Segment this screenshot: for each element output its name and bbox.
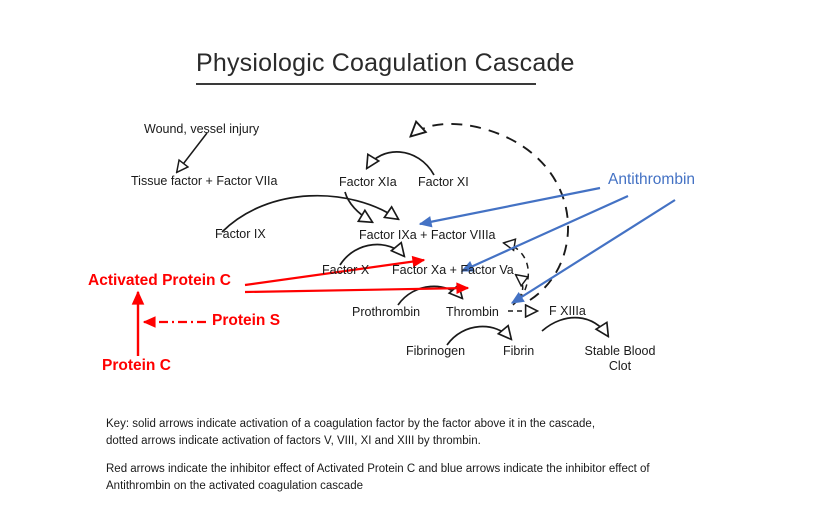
- legend-colors-line2: Antithrombin on the activated coagulatio…: [106, 478, 786, 495]
- node-factor-xia: Factor XIa: [339, 175, 397, 190]
- node-fibrin: Fibrin: [503, 344, 534, 359]
- node-stable-blood-clot-line2: Clot: [609, 359, 631, 373]
- arrow-thrombin-to-factorxa-dashed: [513, 275, 523, 305]
- node-thrombin: Thrombin: [446, 305, 499, 320]
- arrow-fibrin-to-stable-clot: [542, 318, 608, 336]
- arrow-antithrombin-to-factorixa: [420, 188, 600, 224]
- node-factor-ix: Factor IX: [215, 227, 266, 242]
- arrow-fibrinogen-to-fibrin: [447, 327, 511, 345]
- node-factor-xa-va: Factor Xa + Factor Va: [392, 263, 514, 278]
- node-prothrombin: Prothrombin: [352, 305, 420, 320]
- arrow-prothrombin-to-thrombin: [398, 286, 462, 305]
- arrow-factorxia-to-factorixa: [345, 192, 372, 222]
- node-stable-blood-clot-line1: Stable Blood: [585, 344, 656, 358]
- label-activated-protein-c: Activated Protein C: [88, 272, 231, 289]
- arrow-wound-to-tissue-factor: [177, 133, 207, 172]
- legend-colors-line1: Red arrows indicate the inhibitor effect…: [106, 461, 786, 478]
- legend-colors: Red arrows indicate the inhibitor effect…: [106, 461, 786, 494]
- arrow-factorx-to-factorxa: [340, 245, 404, 265]
- legend-key-line2: dotted arrows indicate activation of fac…: [106, 433, 706, 450]
- title-underline: [196, 83, 536, 85]
- diagram-page: Physiologic Coagulation Cascade: [0, 0, 833, 528]
- label-protein-s: Protein S: [212, 312, 280, 329]
- arrow-apc-to-factorxa: [245, 288, 468, 292]
- node-factor-ixa-viiia: Factor IXa + Factor VIIIa: [359, 228, 496, 243]
- legend-key: Key: solid arrows indicate activation of…: [106, 416, 706, 449]
- node-factor-x: Factor X: [322, 263, 369, 278]
- label-antithrombin: Antithrombin: [608, 171, 695, 188]
- arrow-factorxi-to-factorxia: [367, 152, 434, 175]
- node-stable-blood-clot: Stable Blood Clot: [581, 344, 659, 374]
- page-title: Physiologic Coagulation Cascade: [196, 50, 536, 85]
- arrow-antithrombin-to-thrombin: [512, 200, 675, 303]
- legend-key-line1: Key: solid arrows indicate activation of…: [106, 416, 706, 433]
- node-wound-vessel-injury: Wound, vessel injury: [144, 122, 259, 137]
- page-title-text: Physiologic Coagulation Cascade: [196, 50, 536, 78]
- node-fibrinogen: Fibrinogen: [406, 344, 465, 359]
- node-factor-xi: Factor XI: [418, 175, 469, 190]
- node-factor-xiiia: F XIIIa: [549, 304, 586, 319]
- node-tissue-factor: Tissue factor + Factor VIIa: [131, 174, 277, 189]
- label-protein-c: Protein C: [102, 357, 171, 374]
